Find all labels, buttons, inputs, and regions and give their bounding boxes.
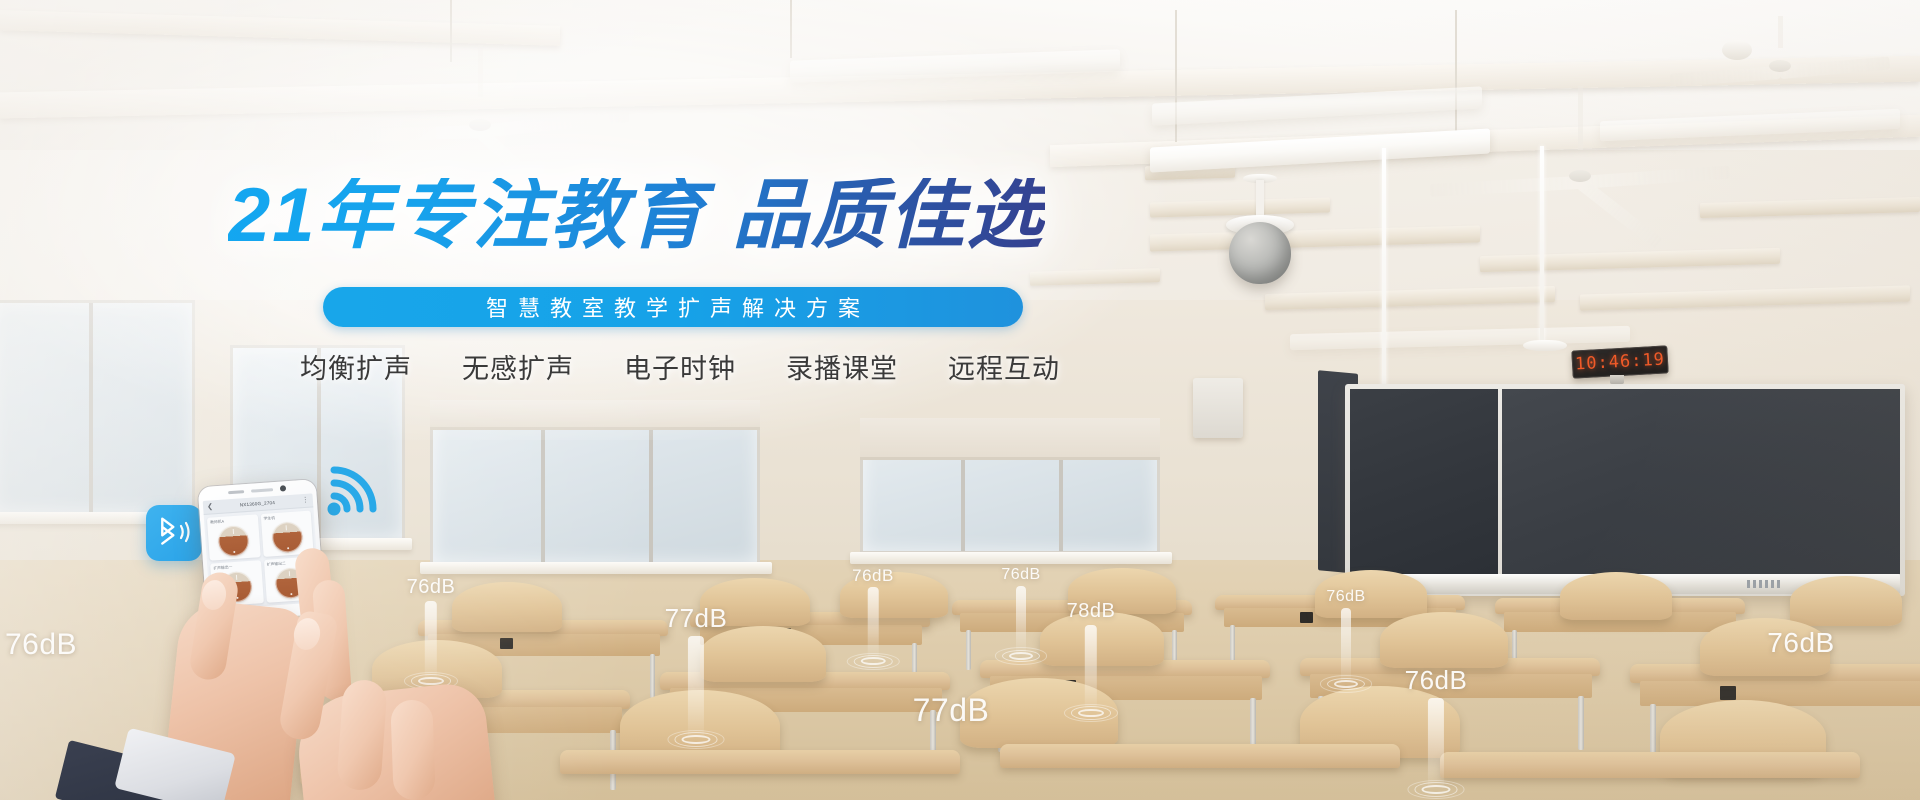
classroom-window bbox=[0, 300, 195, 515]
sound-ripple bbox=[995, 647, 1047, 664]
student-desk bbox=[1640, 681, 1920, 706]
sound-ripple bbox=[1408, 780, 1465, 799]
sound-meter-value: 76dB bbox=[1326, 588, 1365, 606]
mic-pole-mount bbox=[1523, 340, 1567, 351]
sound-meter-value: 77dB bbox=[913, 692, 990, 729]
ceiling-fan bbox=[1430, 148, 1730, 203]
student-desk bbox=[1440, 752, 1860, 778]
student-chair bbox=[700, 626, 826, 682]
back-icon[interactable]: ❮ bbox=[207, 503, 213, 510]
right-middle-finger bbox=[336, 679, 388, 792]
desk-leg bbox=[1578, 696, 1584, 750]
sound-meter-value: 76dB bbox=[852, 566, 894, 586]
right-ring-finger bbox=[390, 699, 435, 800]
student-chair bbox=[1560, 572, 1672, 620]
electronic-clock: 10:46:19 bbox=[1571, 345, 1668, 378]
sound-meter-value: 76dB bbox=[407, 576, 456, 599]
volume-knob[interactable] bbox=[218, 525, 250, 557]
light-wire bbox=[450, 0, 452, 62]
window-sill bbox=[850, 552, 1172, 564]
student-chair bbox=[1380, 612, 1508, 668]
wifi-signal-icon bbox=[325, 460, 387, 518]
feature-item-4[interactable]: 远程互动 bbox=[948, 347, 1060, 386]
sound-meter-value: 76dB bbox=[1767, 627, 1834, 659]
channel-label: 扩声输出一 bbox=[213, 563, 258, 571]
more-vertical-icon[interactable]: ⋮ bbox=[302, 497, 309, 504]
sound-ripple bbox=[847, 653, 900, 670]
sound-meter-value: 77dB bbox=[665, 603, 728, 634]
sound-meter-value: 76dB bbox=[5, 628, 77, 662]
sound-meter-value: 78dB bbox=[1067, 600, 1116, 623]
front-camera-icon bbox=[280, 485, 286, 491]
volume-knob[interactable] bbox=[271, 521, 303, 553]
pendant-speaker-icon bbox=[1229, 222, 1291, 284]
sound-ripple bbox=[1320, 675, 1372, 692]
desk-leg bbox=[1230, 625, 1235, 665]
clock-mount bbox=[1610, 375, 1624, 384]
ceiling-sensor bbox=[1722, 40, 1752, 60]
desk-hook bbox=[1720, 686, 1736, 700]
feature-item-0[interactable]: 均衡扩声 bbox=[300, 347, 412, 386]
interactive-whiteboard bbox=[1345, 384, 1905, 596]
desk-leg bbox=[966, 630, 971, 670]
sound-ripple bbox=[1064, 704, 1118, 722]
light-wire bbox=[1455, 10, 1457, 140]
light-wire bbox=[790, 0, 792, 58]
hero-banner: 10:46:19 bbox=[0, 0, 1920, 800]
sound-beam bbox=[425, 601, 437, 681]
channel-card[interactable]: 教师机A bbox=[207, 514, 260, 560]
blackboard-panel-left bbox=[1350, 389, 1498, 574]
blackboard-panel-center bbox=[1502, 389, 1900, 574]
student-chair bbox=[1790, 576, 1902, 626]
feature-item-2[interactable]: 电子时钟 bbox=[624, 347, 736, 386]
ceiling-fan bbox=[330, 95, 630, 155]
sound-beam bbox=[868, 587, 879, 661]
app-title: NX1360G_2704 bbox=[216, 498, 299, 509]
channel-label: 学生机 bbox=[263, 514, 308, 522]
sound-beam bbox=[688, 636, 704, 740]
clock-time: 10:46:19 bbox=[1575, 350, 1666, 375]
desk-hook bbox=[1300, 612, 1313, 623]
mic-pole bbox=[1540, 146, 1544, 346]
headline-right: 品质佳选 bbox=[733, 173, 1045, 258]
signal-waves bbox=[325, 460, 387, 523]
sound-beam bbox=[1428, 698, 1444, 790]
bluetooth-badge bbox=[146, 505, 202, 561]
window-blind bbox=[860, 418, 1160, 460]
desk-leg bbox=[650, 654, 655, 698]
sound-beam bbox=[1016, 586, 1026, 656]
window-sill bbox=[420, 562, 772, 574]
sound-meter-value: 76dB bbox=[1405, 665, 1468, 696]
student-desk bbox=[560, 750, 960, 774]
ceiling-fan bbox=[1660, 46, 1900, 86]
channel-label: 教师机A bbox=[210, 517, 255, 525]
subtitle-pill: 智慧教室教学扩声解决方案 bbox=[323, 287, 1023, 327]
phone-earpiece bbox=[251, 488, 273, 493]
phone-sensor bbox=[228, 490, 244, 494]
headline-left: 21年专注教育 bbox=[228, 173, 707, 258]
student-desk bbox=[1000, 744, 1400, 768]
window-blind bbox=[430, 400, 760, 430]
feature-item-1[interactable]: 无感扩声 bbox=[462, 347, 574, 386]
feature-list: 均衡扩声 无感扩声 电子时钟 录播课堂 远程互动 bbox=[300, 347, 1060, 386]
desk-hook bbox=[500, 638, 513, 649]
student-chair bbox=[452, 582, 562, 632]
sound-beam bbox=[1085, 625, 1097, 713]
wall-speaker-box bbox=[1193, 378, 1243, 438]
channel-row: 教师机A 学生机 bbox=[207, 511, 314, 561]
bluetooth-audio-icon bbox=[154, 517, 194, 549]
board-control-buttons[interactable] bbox=[1747, 580, 1780, 588]
feature-item-3[interactable]: 录播课堂 bbox=[786, 347, 898, 386]
page-title: 21年专注教育品质佳选 bbox=[228, 178, 1045, 254]
sound-meter-value: 76dB bbox=[1001, 566, 1040, 584]
sound-beam bbox=[1341, 608, 1351, 684]
sound-ripple bbox=[668, 730, 725, 749]
subtitle-text: 智慧教室教学扩声解决方案 bbox=[476, 291, 870, 323]
